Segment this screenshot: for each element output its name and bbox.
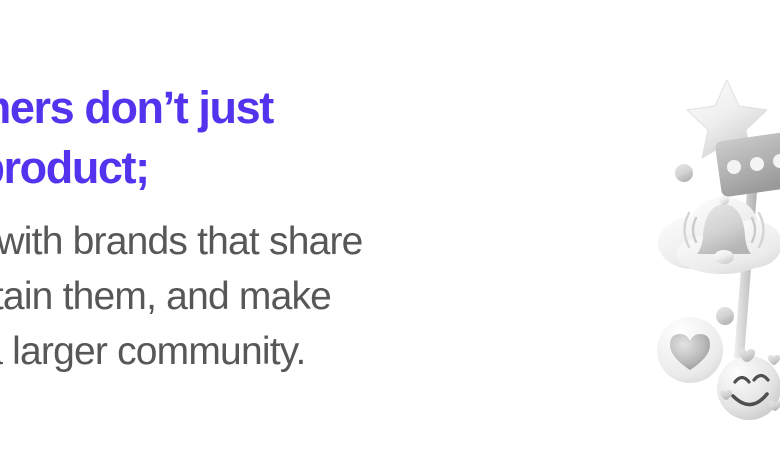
illustration-svg — [632, 58, 780, 428]
body-copy: align with brands that share entertain t… — [0, 214, 628, 379]
chat-sign-icon — [715, 131, 780, 198]
slide-canvas: stomers don’t just y a product; align wi… — [0, 0, 780, 470]
cloud-icon — [658, 197, 780, 274]
quote-text-block: stomers don’t just y a product; align wi… — [0, 78, 628, 379]
headline-line-1: stomers don’t just — [0, 78, 628, 138]
body-line-2: entertain them, and make — [0, 269, 628, 324]
headline-line-2: y a product; — [0, 138, 628, 198]
star-icon — [687, 80, 767, 158]
floating-dot-icon — [675, 164, 734, 325]
body-line-1: align with brands that share — [0, 214, 628, 269]
bell-icon — [685, 195, 764, 264]
body-line-3: rt of a larger community. — [0, 324, 628, 379]
page-title: stomers don’t just y a product; — [0, 78, 628, 198]
smiling-face-icon — [717, 349, 780, 420]
heart-badge-icon — [657, 317, 723, 383]
pole-icon — [734, 153, 760, 358]
social-engagement-illustration — [632, 58, 780, 428]
